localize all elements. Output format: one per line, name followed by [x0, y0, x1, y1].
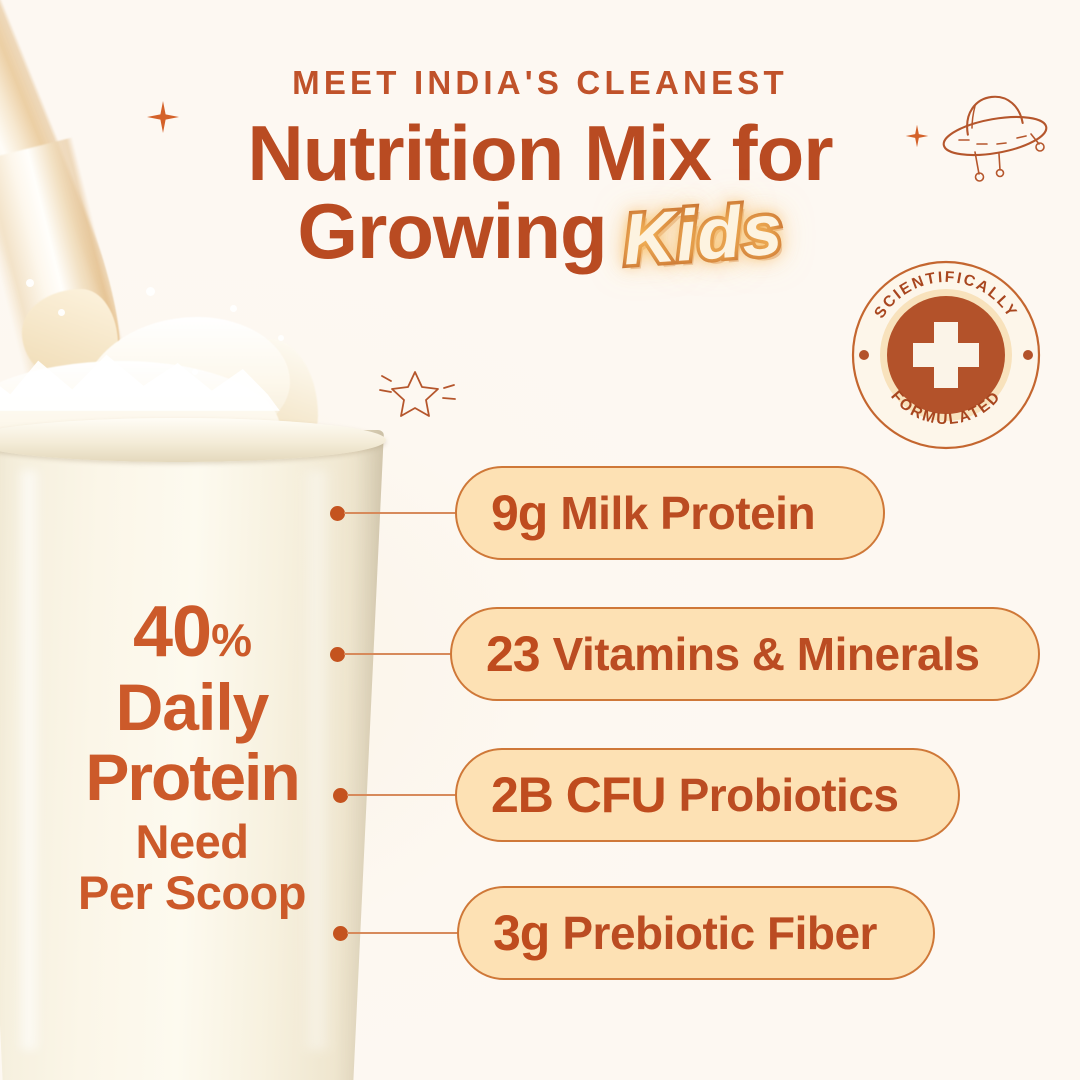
- connector-dot: [330, 506, 345, 521]
- feature-3-number: 2B CFU: [491, 766, 666, 824]
- connector-line: [344, 653, 452, 655]
- feature-3-label: Probiotics: [679, 768, 899, 822]
- connector-dot: [333, 788, 348, 803]
- feature-pill-2[interactable]: 23 Vitamins & Minerals: [450, 607, 1040, 701]
- feature-1-number: 9g: [491, 484, 547, 542]
- connector-line: [347, 794, 457, 796]
- feature-pill-3[interactable]: 2B CFU Probiotics: [455, 748, 960, 842]
- feature-pill-4[interactable]: 3g Prebiotic Fiber: [457, 886, 935, 980]
- feature-1-label: Milk Protein: [560, 486, 815, 540]
- feature-list: 9g Milk Protein 23 Vitamins & Minerals 2…: [0, 0, 1080, 1080]
- connector-dot: [333, 926, 348, 941]
- connector-line: [344, 512, 460, 514]
- feature-4-number: 3g: [493, 904, 549, 962]
- feature-2-label: Vitamins & Minerals: [553, 627, 980, 681]
- poster-canvas: MEET INDIA'S CLEANEST Nutrition Mix for …: [0, 0, 1080, 1080]
- feature-pill-1[interactable]: 9g Milk Protein: [455, 466, 885, 560]
- feature-4-label: Prebiotic Fiber: [562, 906, 877, 960]
- feature-2-number: 23: [486, 625, 540, 683]
- connector-line: [347, 932, 459, 934]
- connector-dot: [330, 647, 345, 662]
